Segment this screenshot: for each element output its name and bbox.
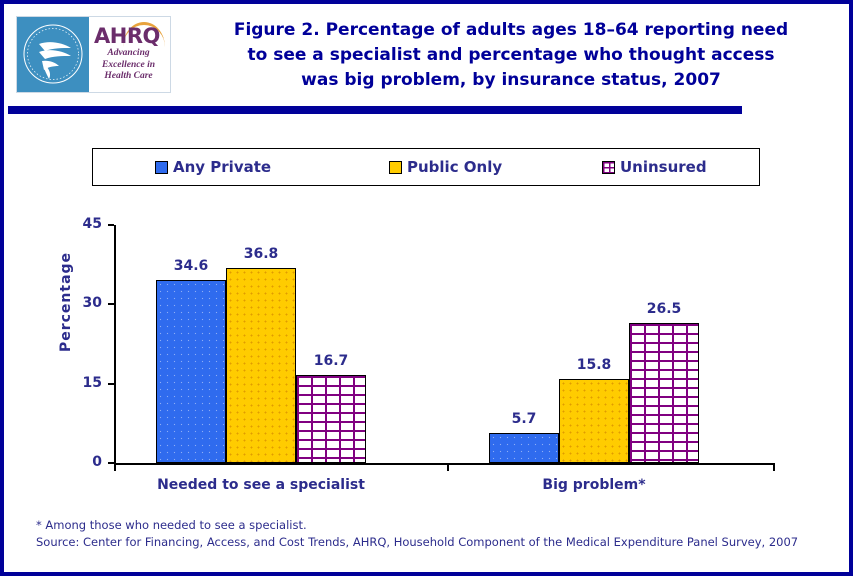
x-category-label: Big problem* bbox=[444, 477, 744, 493]
y-tick-mark-45 bbox=[108, 224, 114, 226]
bar bbox=[489, 433, 559, 463]
y-tick-mark-30 bbox=[108, 303, 114, 305]
x-axis-line bbox=[114, 463, 775, 465]
y-tick-mark-15 bbox=[108, 383, 114, 385]
x-axis-tick-right bbox=[773, 463, 775, 471]
footnote-source: Source: Center for Financing, Access, an… bbox=[36, 534, 826, 551]
x-axis-tick-middle bbox=[447, 463, 449, 471]
figure-footnotes: * Among those who needed to see a specia… bbox=[36, 517, 826, 551]
footnote-asterisk: * Among those who needed to see a specia… bbox=[36, 517, 826, 534]
bar bbox=[296, 375, 366, 463]
x-axis-tick-left bbox=[114, 463, 116, 471]
y-axis-line bbox=[114, 225, 116, 464]
bar-value-label: 26.5 bbox=[614, 301, 714, 317]
figure-frame: AHRQ Advancing Excellence in Health Care… bbox=[0, 0, 853, 576]
bar-value-label: 16.7 bbox=[281, 353, 381, 369]
x-category-label: Needed to see a specialist bbox=[111, 477, 411, 493]
y-tick-label-15: 15 bbox=[62, 375, 102, 391]
y-tick-label-45: 45 bbox=[62, 216, 102, 232]
y-tick-label-0: 0 bbox=[62, 454, 102, 470]
bar-value-label: 36.8 bbox=[211, 246, 311, 262]
chart-plot-area: Percentage 0153045 34.636.816.75.715.826… bbox=[4, 4, 853, 580]
bar bbox=[156, 280, 226, 463]
y-tick-label-30: 30 bbox=[62, 295, 102, 311]
bar bbox=[629, 323, 699, 463]
bar bbox=[559, 379, 629, 463]
